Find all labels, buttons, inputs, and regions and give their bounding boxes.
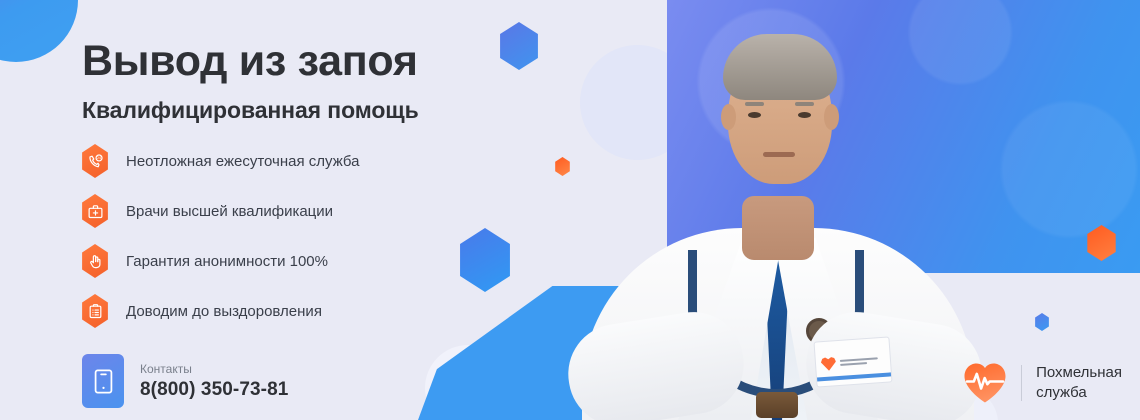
logo-text-line1: Похмельная (1036, 364, 1122, 381)
clipboard-checklist-icon (80, 294, 110, 328)
feature-item-emergency-service: 24 Неотложная ежесуточная служба (80, 144, 359, 178)
logo-text: Похмельная служба (1036, 363, 1122, 403)
feature-label: Врачи высшей квалификации (126, 203, 333, 220)
page-subtitle: Квалифицированная помощь (82, 97, 419, 124)
brand-logo[interactable]: Похмельная служба (963, 362, 1122, 403)
hand-gesture-icon (80, 244, 110, 278)
feature-item-full-recovery: Доводим до выздоровления (80, 294, 359, 328)
heart-pulse-icon (963, 362, 1007, 403)
svg-text:24: 24 (96, 156, 100, 160)
promo-banner: Вывод из запоя Квалифицированная помощь … (0, 0, 1140, 420)
features-list: 24 Неотложная ежесуточная служба Врачи в… (80, 144, 359, 328)
medical-briefcase-icon (80, 194, 110, 228)
banner-content: Вывод из запоя Квалифицированная помощь … (0, 0, 1140, 420)
mobile-phone-icon (82, 354, 124, 408)
feature-label: Неотложная ежесуточная служба (126, 153, 359, 170)
feature-item-anonymity-guarantee: Гарантия анонимности 100% (80, 244, 359, 278)
feature-item-qualified-doctors: Врачи высшей квалификации (80, 194, 359, 228)
page-title: Вывод из запоя (82, 38, 418, 85)
logo-text-line2: служба (1036, 384, 1087, 401)
logo-divider (1021, 365, 1022, 401)
contact-phone-link[interactable]: 8(800) 350-73-81 (140, 379, 288, 401)
contact-label: Контакты (140, 362, 288, 376)
contact-block[interactable]: Контакты 8(800) 350-73-81 (82, 354, 288, 408)
phone-24h-icon: 24 (80, 144, 110, 178)
contact-text: Контакты 8(800) 350-73-81 (140, 362, 288, 401)
feature-label: Доводим до выздоровления (126, 303, 322, 320)
feature-label: Гарантия анонимности 100% (126, 253, 328, 270)
